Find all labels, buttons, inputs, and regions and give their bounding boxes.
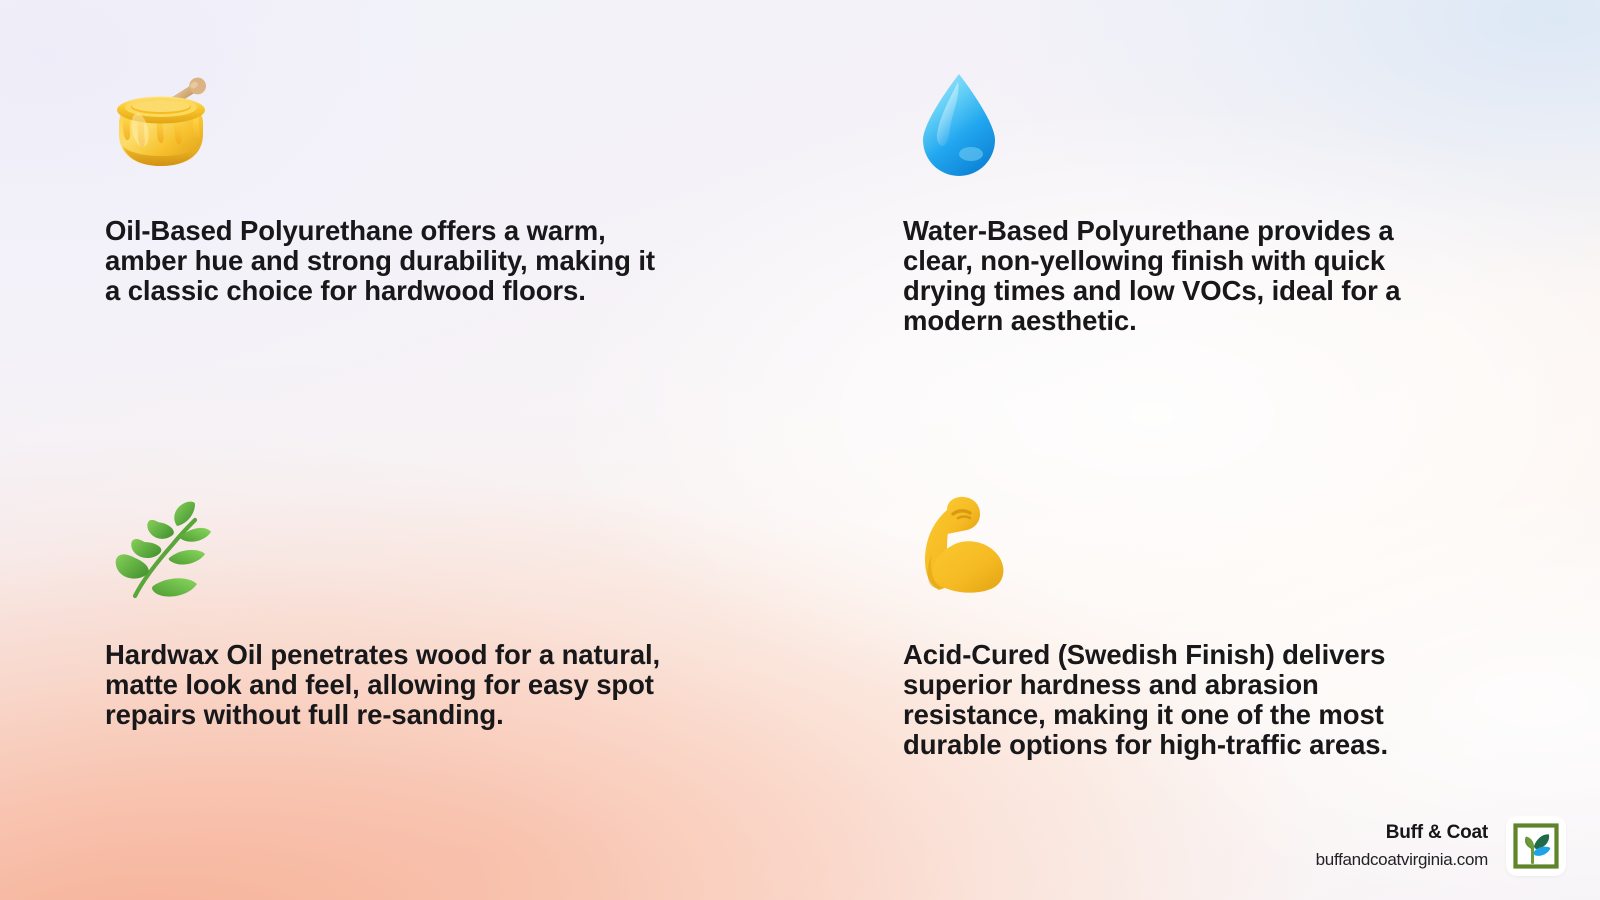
finish-card-oil-based-polyurethane: Oil-Based Polyurethane offers a warm, am…: [105, 68, 705, 306]
brand-name: Buff & Coat: [1316, 820, 1488, 846]
finish-card-text: Acid-Cured (Swedish Finish) delivers sup…: [903, 640, 1448, 760]
leaf-plant-logo-icon: [1513, 823, 1559, 869]
brand-footer[interactable]: Buff & Coat buffandcoatvirginia.com: [1316, 816, 1566, 876]
finish-card-text: Oil-Based Polyurethane offers a warm, am…: [105, 216, 665, 306]
finish-card-water-based-polyurethane: Water-Based Polyurethane provides a clea…: [903, 68, 1503, 336]
flexed-bicep-icon: [903, 492, 1015, 604]
infographic-canvas: Oil-Based Polyurethane offers a warm, am…: [0, 0, 1600, 900]
brand-text-block: Buff & Coat buffandcoatvirginia.com: [1316, 820, 1488, 872]
brand-url[interactable]: buffandcoatvirginia.com: [1316, 849, 1488, 872]
finish-card-acid-cured-swedish-finish: Acid-Cured (Swedish Finish) delivers sup…: [903, 492, 1503, 760]
water-droplet-icon: [903, 68, 1015, 180]
finish-card-hardwax-oil: Hardwax Oil penetrates wood for a natura…: [105, 492, 705, 730]
finish-card-text: Hardwax Oil penetrates wood for a natura…: [105, 640, 665, 730]
finish-card-text: Water-Based Polyurethane provides a clea…: [903, 216, 1448, 336]
brand-logo-card: [1506, 816, 1566, 876]
herb-leaf-icon: [105, 492, 217, 604]
honey-pot-icon: [105, 68, 217, 180]
